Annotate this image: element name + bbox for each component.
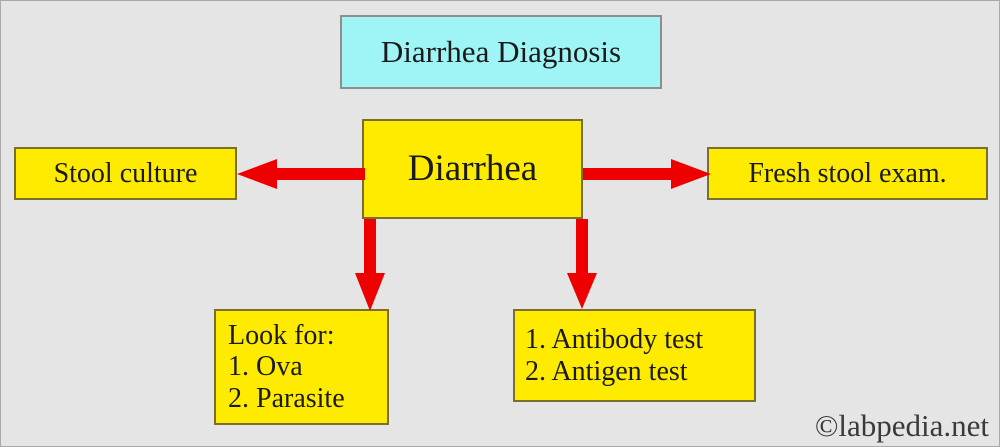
arrow-root-to-left-icon	[237, 159, 365, 189]
node-look-for-ova-parasite-label: Look for: 1. Ova 2. Parasite	[228, 320, 345, 414]
node-diarrhea-label: Diarrhea	[408, 148, 537, 189]
node-look-for-ova-parasite: Look for: 1. Ova 2. Parasite	[214, 309, 389, 425]
arrow-root-to-bottom-right-icon	[567, 219, 597, 309]
node-fresh-stool-exam-label: Fresh stool exam.	[748, 158, 946, 189]
arrow-root-to-bottom-left-icon	[355, 219, 385, 311]
arrow-root-to-right-icon	[583, 159, 711, 189]
node-fresh-stool-exam: Fresh stool exam.	[707, 147, 988, 200]
diagram-title-box: Diarrhea Diagnosis	[340, 15, 662, 89]
node-antibody-antigen-test-label: 1. Antibody test 2. Antigen test	[525, 324, 703, 387]
diagram-title-label: Diarrhea Diagnosis	[381, 35, 621, 70]
node-diarrhea: Diarrhea	[362, 119, 583, 219]
node-antibody-antigen-test: 1. Antibody test 2. Antigen test	[513, 309, 756, 402]
watermark-labpedia: ©labpedia.net	[815, 408, 989, 444]
diagram-canvas: Diarrhea Diagnosis Diarrhea Stool cultur…	[0, 0, 1000, 447]
node-stool-culture-label: Stool culture	[54, 158, 198, 189]
node-stool-culture: Stool culture	[14, 147, 237, 200]
